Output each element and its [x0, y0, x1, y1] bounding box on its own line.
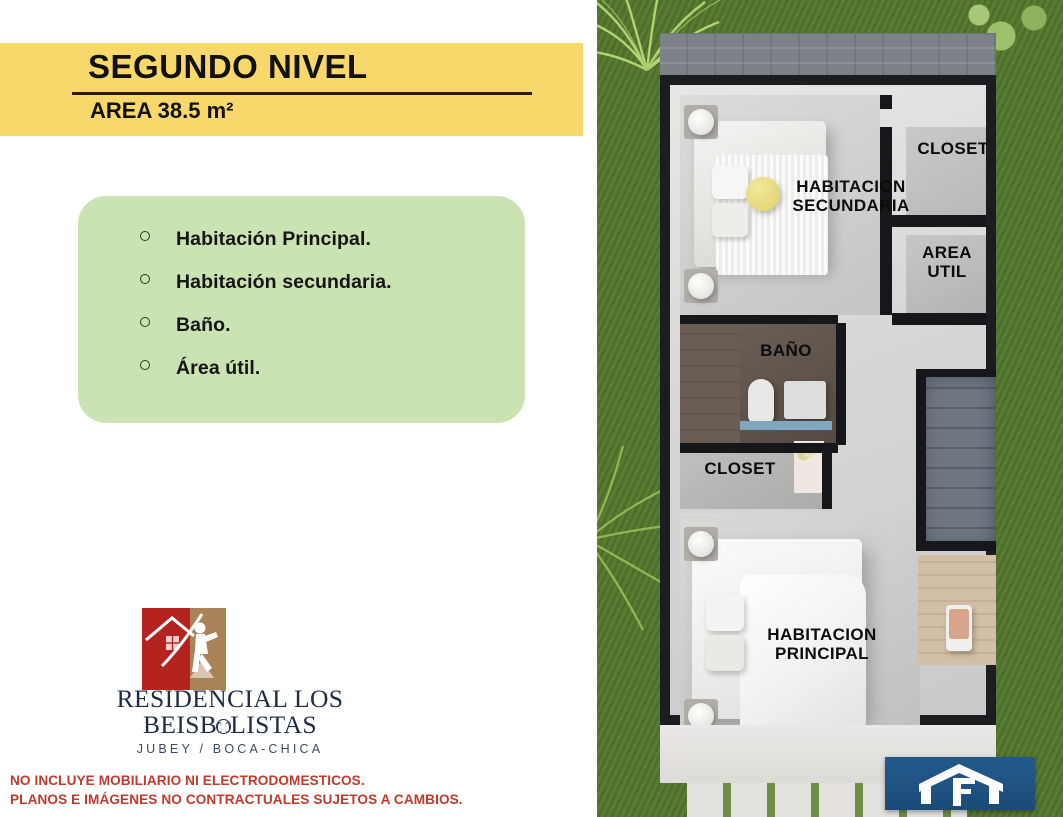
- house-baseball-batter-icon: [142, 608, 226, 690]
- developer-badge: [885, 757, 1035, 810]
- label-line-1: AREA: [908, 243, 986, 262]
- staircase: [922, 375, 996, 547]
- list-item-label: Área útil.: [176, 357, 260, 380]
- flyer-page: SEGUNDO NIVEL AREA 38.5 m² Habitación Pr…: [0, 0, 1063, 817]
- roof-strip-texture: [660, 33, 996, 77]
- room-label-closet-top: CLOSET: [908, 139, 998, 158]
- area-label: AREA 38.5 m²: [90, 98, 233, 124]
- circle-outline-icon: [140, 317, 150, 327]
- wall-segment: [892, 215, 986, 227]
- house-roof-f-logo-icon: [913, 762, 1009, 806]
- list-item: Área útil.: [140, 357, 510, 400]
- list-item-label: Baño.: [176, 314, 231, 337]
- disclaimer: NO INCLUYE MOBILIARIO NI ELECTRODOMESTIC…: [10, 772, 463, 810]
- label-line-2: PRINCIPAL: [742, 644, 902, 663]
- label-line-1: HABITACION: [776, 177, 926, 196]
- round-cushion: [746, 177, 780, 211]
- lamp-icon: [688, 273, 714, 299]
- room-label-habitacion-principal: HABITACION PRINCIPAL: [742, 625, 902, 663]
- feature-list: Habitación Principal. Habitación secunda…: [140, 228, 510, 400]
- lamp-icon: [688, 109, 714, 135]
- circle-outline-icon: [140, 231, 150, 241]
- floorplan-render: HABITACION SECUNDARIA CLOSET AREA UTIL B…: [597, 0, 1063, 817]
- title-underline: [72, 92, 532, 95]
- disclaimer-line-2: PLANOS E IMÁGENES NO CONTRACTUALES SUJET…: [10, 791, 463, 810]
- logo-line-2-after: LISTAS: [230, 710, 317, 739]
- header-band: SEGUNDO NIVEL AREA 38.5 m²: [0, 43, 583, 136]
- info-panel: SEGUNDO NIVEL AREA 38.5 m² Habitación Pr…: [0, 0, 597, 817]
- room-label-area-util: AREA UTIL: [908, 243, 986, 281]
- toilet-icon: [748, 379, 774, 423]
- feature-list-box: Habitación Principal. Habitación secunda…: [78, 196, 525, 423]
- wall-segment: [916, 369, 926, 549]
- pillow: [706, 595, 744, 631]
- brand-logo: RESIDENCIAL LOS BEISBLISTAS JUBEY / BOCA…: [80, 608, 380, 753]
- wall-segment: [916, 369, 996, 377]
- wall-segment: [680, 443, 838, 453]
- list-item-label: Habitación Principal.: [176, 228, 371, 251]
- room-label-bano: BAÑO: [744, 341, 828, 360]
- circle-outline-icon: [140, 360, 150, 370]
- label-line-1: HABITACION: [742, 625, 902, 644]
- house-outline: HABITACION SECUNDARIA CLOSET AREA UTIL B…: [660, 75, 996, 725]
- wall-segment: [916, 541, 996, 551]
- circle-outline-icon: [140, 274, 150, 284]
- room-label-closet-bottom: CLOSET: [692, 459, 788, 478]
- list-item: Habitación secundaria.: [140, 271, 510, 314]
- page-title: SEGUNDO NIVEL: [88, 48, 368, 86]
- logo-wordmark: RESIDENCIAL LOS BEISBLISTAS JUBEY / BOCA…: [80, 686, 380, 756]
- pillow: [712, 203, 748, 237]
- list-item-label: Habitación secundaria.: [176, 271, 392, 294]
- list-item: Habitación Principal.: [140, 228, 510, 271]
- wall-segment: [822, 453, 832, 509]
- vanity-counter: [740, 421, 832, 430]
- logo-line-2-before: BEISB: [143, 710, 217, 739]
- logo-line-1: RESIDENCIAL LOS: [80, 686, 380, 712]
- wall-segment: [880, 127, 892, 315]
- label-line-2: SECUNDARIA: [776, 196, 926, 215]
- pillow: [706, 635, 744, 671]
- pillow: [712, 165, 748, 199]
- bath-wood-wall: [680, 323, 740, 445]
- label-line-2: UTIL: [908, 262, 986, 281]
- baseball-icon: [216, 719, 231, 734]
- wall-segment: [892, 313, 986, 325]
- lamp-icon: [688, 531, 714, 557]
- wall-segment: [836, 323, 846, 445]
- sink-vanity-icon: [784, 381, 826, 419]
- logo-tagline: JUBEY / BOCA-CHICA: [80, 742, 380, 756]
- logo-line-2: BEISBLISTAS: [80, 712, 380, 738]
- wall-segment: [880, 95, 892, 109]
- lounge-chair-cushion: [949, 609, 969, 639]
- room-label-habitacion-secundaria: HABITACION SECUNDARIA: [776, 177, 926, 215]
- disclaimer-line-1: NO INCLUYE MOBILIARIO NI ELECTRODOMESTIC…: [10, 772, 463, 791]
- wall-segment: [680, 315, 838, 324]
- list-item: Baño.: [140, 314, 510, 357]
- floor-surface: HABITACION SECUNDARIA CLOSET AREA UTIL B…: [670, 85, 986, 715]
